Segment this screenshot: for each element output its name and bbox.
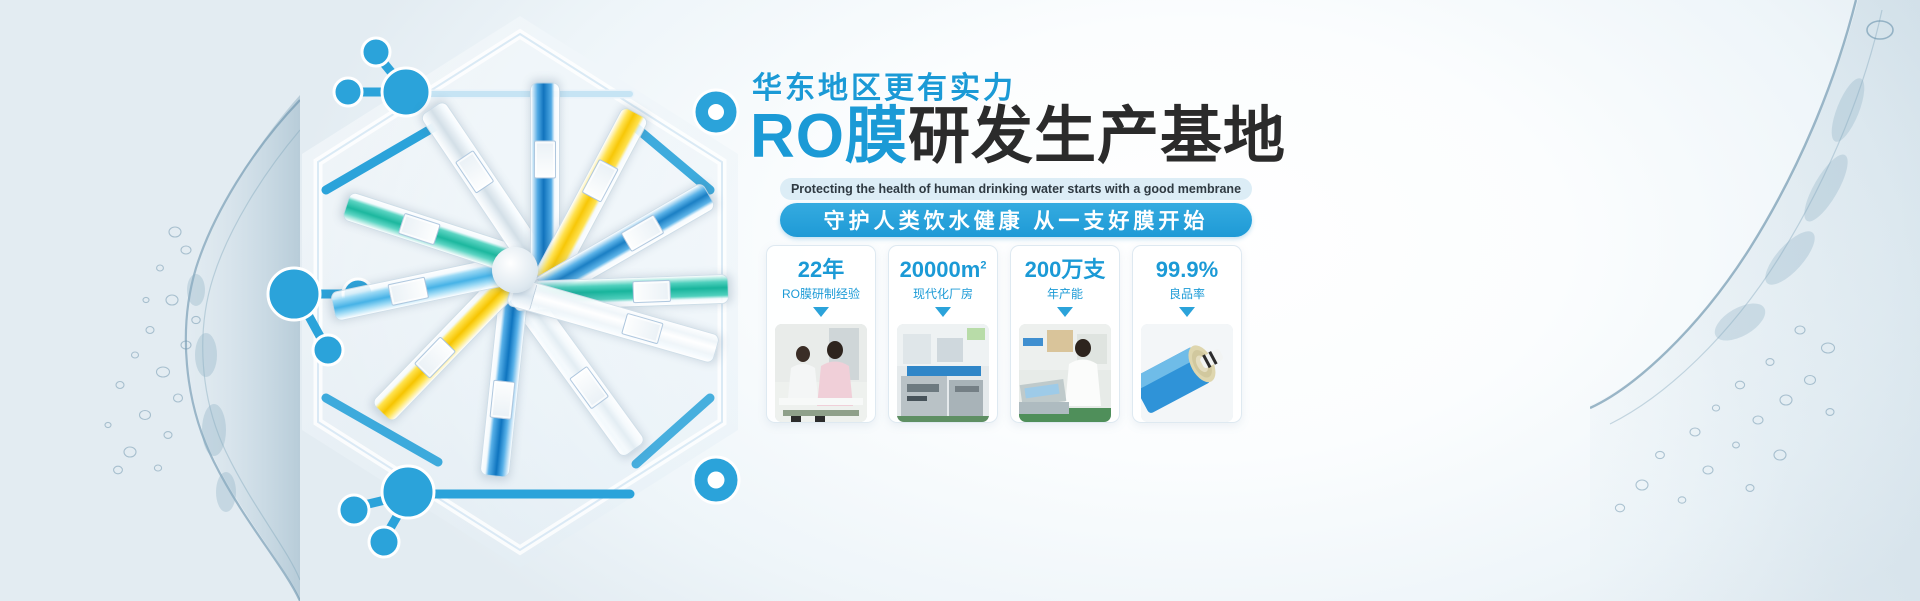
stat-label: 良品率 (1169, 285, 1205, 302)
stat-label: 现代化厂房 (913, 285, 973, 302)
stat-card-annual-capacity[interactable]: 200万支 年产能 (1010, 245, 1120, 423)
water-splash-right-decoration (1590, 0, 1920, 601)
hexagon-molecule-graphic (238, 0, 798, 594)
caret-down-icon (1179, 307, 1195, 317)
stat-value: 99.9% (1156, 258, 1218, 282)
stat-value-superscript: 2 (980, 260, 986, 272)
ring-node-top-right (694, 90, 738, 134)
stat-value: 200万支 (1025, 258, 1106, 282)
membrane-yellow-lower-left (522, 106, 649, 310)
eyebrow-text: 华东地区更有实力 (752, 63, 1016, 107)
stat-card-row: 22年 RO膜研制经验 (766, 245, 1242, 423)
banner-content-column: 华东地区更有实力 RO膜研发生产基地 Protecting the health… (752, 0, 1392, 601)
membrane-clear-upper-left (496, 267, 647, 459)
membrane-blue-left (515, 182, 716, 315)
molecule-node-left (268, 268, 373, 365)
membrane-teal-left (513, 274, 729, 311)
membrane-grey-lower-right (419, 100, 564, 295)
caret-down-icon (935, 307, 951, 317)
stat-label: 年产能 (1047, 285, 1083, 302)
stat-value: 20000m2 (900, 258, 987, 282)
cleanroom-workers-photo (775, 324, 867, 422)
membrane-white-upper-left (506, 276, 721, 364)
ring-node-bottom-right (693, 457, 739, 503)
stat-label: RO膜研制经验 (782, 285, 860, 302)
chinese-slogan-bar: 守护人类饮水健康 从一支好膜开始 (780, 203, 1252, 237)
headline-blue-part: RO膜 (750, 102, 908, 171)
water-splash-left-decoration (0, 0, 300, 601)
membrane-yellow-right (371, 248, 542, 423)
molecule-node-top (334, 38, 430, 116)
production-machine-photo (897, 324, 989, 422)
stat-card-yield-rate[interactable]: 99.9% 良品率 (1132, 245, 1242, 423)
ring-node-left-hexagon (238, 0, 798, 594)
membrane-blue-main-bottom (530, 83, 560, 298)
packing-line-worker-photo (1019, 324, 1111, 422)
membrane-cluster-center-cap (492, 247, 538, 293)
stat-card-factory-area[interactable]: 20000m2 现代化厂房 (888, 245, 998, 423)
caret-down-icon (813, 307, 829, 317)
stat-card-experience[interactable]: 22年 RO膜研制经验 (766, 245, 876, 423)
stat-value: 22年 (798, 258, 844, 282)
ro-membrane-product-cluster (305, 55, 725, 485)
membrane-lightblue-right (330, 248, 547, 322)
ro-membrane-banner: 华东地区更有实力 RO膜研发生产基地 Protecting the health… (0, 0, 1920, 601)
membrane-teal-right (341, 191, 555, 286)
caret-down-icon (1057, 307, 1073, 317)
membrane-blue-top (479, 261, 531, 478)
headline-dark-part: 研发生产基地 (908, 102, 1286, 171)
page-title: RO膜研发生产基地 (750, 104, 1286, 169)
ro-membrane-element-photo (1141, 324, 1233, 422)
molecule-node-bottom (339, 466, 434, 557)
english-subtitle-band: Protecting the health of human drinking … (780, 178, 1252, 200)
